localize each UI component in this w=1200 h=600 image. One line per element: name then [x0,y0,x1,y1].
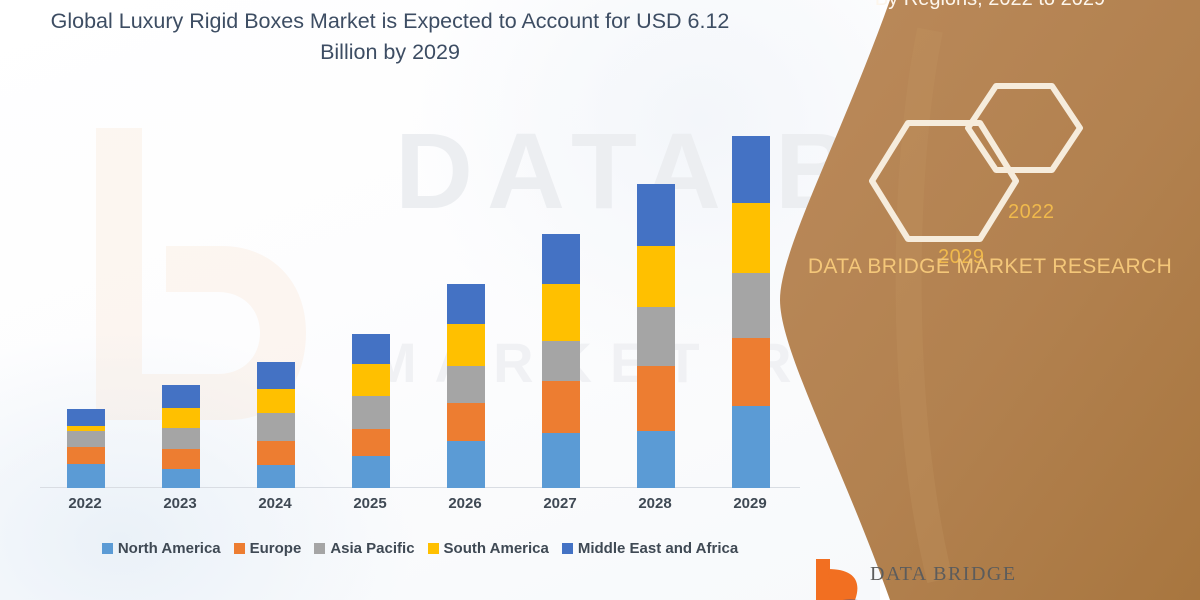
legend-label: South America [444,540,549,557]
hexagon-2022-label: 2022 [1008,201,1055,224]
x-axis-label-2028: 2028 [610,495,700,512]
brand-name: DATA BRIDGE MARKET RESEARCH [800,250,1180,283]
bar-group-2026 [420,100,510,488]
bar-segment-asia_pacific-2023 [162,428,200,449]
hexagon-group: 2029 2022 [800,78,1180,248]
bar-segment-north_america-2027 [542,433,580,488]
stacked-bar-2023[interactable] [162,385,200,488]
legend-item-asia-pacific[interactable]: Asia Pacific [314,540,414,557]
brand-panel-content: By Regions, 2022 to 2029 2029 2022 DATA … [780,0,1200,600]
bar-segment-asia_pacific-2022 [67,431,105,447]
bar-segment-europe-2025 [352,429,390,456]
bar-segment-north_america-2025 [352,456,390,488]
bar-group-2024 [230,100,320,488]
stacked-bar-2022[interactable] [67,409,105,488]
legend-swatch-icon [234,543,245,554]
bar-segment-asia_pacific-2025 [352,396,390,429]
legend-swatch-icon [102,543,113,554]
infographic-root: DATA BRIDGE MARKET RESEARCH Global Luxur… [0,0,1200,600]
x-axis-label-2024: 2024 [230,495,320,512]
legend-swatch-icon [314,543,325,554]
stacked-bar-2024[interactable] [257,362,295,488]
bar-segment-south_america-2029 [732,203,770,273]
bar-segment-asia_pacific-2027 [542,341,580,381]
bar-segment-asia_pacific-2029 [732,273,770,338]
bar-segment-asia_pacific-2028 [637,307,675,366]
chart-title: Global Luxury Rigid Boxes Market is Expe… [40,6,740,68]
bar-segment-south_america-2023 [162,408,200,428]
bar-segment-middle_east_and_africa-2026 [447,284,485,324]
bar-segment-europe-2022 [67,447,105,464]
x-axis-label-2023: 2023 [135,495,225,512]
plot-area [40,100,800,488]
x-axis-label-2027: 2027 [515,495,605,512]
bar-segment-south_america-2026 [447,324,485,366]
bar-segment-north_america-2029 [732,406,770,488]
bar-segment-middle_east_and_africa-2029 [732,136,770,203]
stacked-bar-2026[interactable] [447,284,485,488]
bar-group-2025 [325,100,415,488]
x-axis-label-2026: 2026 [420,495,510,512]
bar-segment-europe-2028 [637,366,675,431]
legend-swatch-icon [428,543,439,554]
bar-segment-middle_east_and_africa-2025 [352,334,390,364]
brand-panel-heading: By Regions, 2022 to 2029 [810,0,1170,14]
bar-segment-middle_east_and_africa-2024 [257,362,295,389]
bar-segment-north_america-2026 [447,441,485,488]
bar-segment-europe-2026 [447,403,485,441]
bar-segment-north_america-2023 [162,469,200,488]
bar-group-2028 [610,100,700,488]
stacked-bar-2028[interactable] [637,184,675,488]
bottom-logo: DATA BRIDGE [800,553,1200,600]
x-axis-label-2025: 2025 [325,495,415,512]
bar-segment-north_america-2022 [67,464,105,488]
bar-segment-middle_east_and_africa-2023 [162,385,200,408]
bar-segment-europe-2029 [732,338,770,406]
hexagon-shapes [800,78,1180,248]
legend-item-middle-east-and-africa[interactable]: Middle East and Africa [562,540,738,557]
brand-panel: By Regions, 2022 to 2029 2029 2022 DATA … [780,0,1200,600]
stacked-bar-2027[interactable] [542,234,580,488]
legend-label: Middle East and Africa [578,540,738,557]
bar-segment-middle_east_and_africa-2022 [67,409,105,426]
x-axis-labels: 20222023202420252026202720282029 [40,495,800,521]
legend-label: Asia Pacific [330,540,414,557]
bar-segment-europe-2023 [162,449,200,469]
chart-legend: North AmericaEuropeAsia PacificSouth Ame… [40,540,800,557]
chart-panel: DATA BRIDGE MARKET RESEARCH Global Luxur… [0,0,880,600]
bar-group-2023 [135,100,225,488]
bar-segment-asia_pacific-2024 [257,413,295,441]
stacked-bar-2025[interactable] [352,334,390,488]
legend-item-north-america[interactable]: North America [102,540,221,557]
bar-group-2027 [515,100,605,488]
bottom-logo-text: DATA BRIDGE [870,563,1017,586]
legend-item-europe[interactable]: Europe [234,540,302,557]
hexagon-2029-shape [872,123,1016,239]
legend-label: North America [118,540,221,557]
bar-segment-north_america-2028 [637,431,675,488]
bar-segment-south_america-2025 [352,364,390,396]
bar-segment-south_america-2027 [542,284,580,341]
x-axis-label-2022: 2022 [40,495,130,512]
legend-label: Europe [250,540,302,557]
legend-swatch-icon [562,543,573,554]
bar-segment-asia_pacific-2026 [447,366,485,403]
bar-segment-north_america-2024 [257,465,295,488]
bar-segment-europe-2024 [257,441,295,465]
legend-item-south-america[interactable]: South America [428,540,549,557]
bar-segment-south_america-2024 [257,389,295,413]
stacked-bar-2029[interactable] [732,136,770,488]
bar-segment-europe-2027 [542,381,580,433]
bar-segment-middle_east_and_africa-2028 [637,184,675,246]
bar-segment-south_america-2028 [637,246,675,307]
bar-segment-middle_east_and_africa-2027 [542,234,580,284]
bar-group-2022 [40,100,130,488]
